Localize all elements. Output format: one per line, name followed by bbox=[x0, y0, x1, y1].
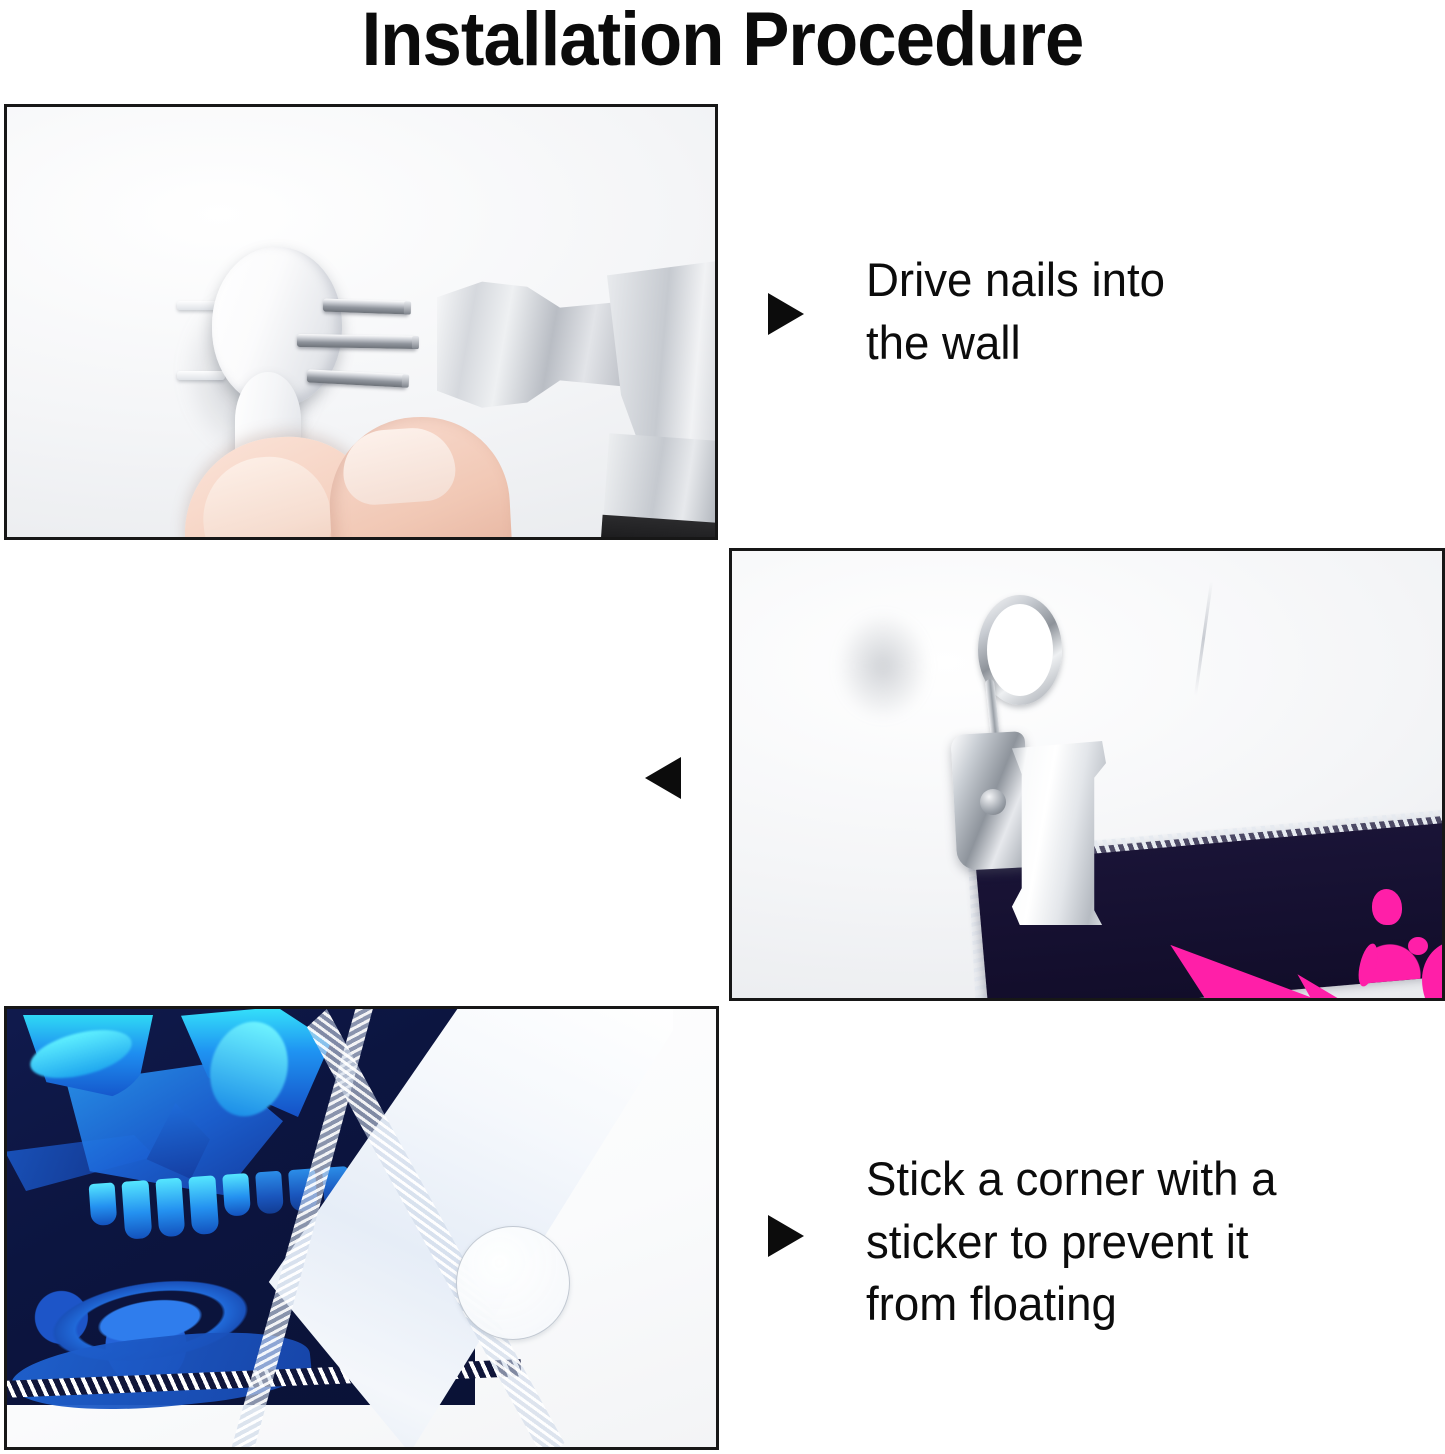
tapestry-pink-dot-2 bbox=[1408, 937, 1428, 955]
step-2-photo bbox=[729, 548, 1445, 1001]
triangle-right-icon bbox=[768, 293, 804, 335]
tapestry-pink-dot-1 bbox=[1372, 889, 1402, 925]
adhesive-sticker bbox=[456, 1226, 570, 1340]
clip-pivot bbox=[980, 789, 1006, 815]
step-3-label: Stick a corner with a sticker to prevent… bbox=[866, 1148, 1322, 1336]
nail-middle bbox=[297, 334, 417, 349]
step-1-label: Drive nails into the wall bbox=[866, 249, 1273, 374]
installation-procedure-infographic: Installation Procedure bbox=[0, 0, 1445, 1454]
clip-wall-shadow bbox=[818, 591, 948, 741]
triangle-left-icon bbox=[645, 757, 681, 799]
skull-tooth bbox=[89, 1182, 118, 1226]
step-3-photo bbox=[4, 1006, 719, 1450]
hook-fin-lower bbox=[177, 371, 225, 380]
step-1-photo bbox=[4, 104, 718, 540]
skull-tooth bbox=[255, 1171, 284, 1215]
skull-tooth bbox=[155, 1178, 185, 1238]
skull-tooth bbox=[222, 1173, 251, 1217]
clip-jaw bbox=[1008, 741, 1106, 925]
skull-tooth bbox=[188, 1175, 218, 1235]
page-title: Installation Procedure bbox=[51, 0, 1395, 82]
skull-tooth bbox=[122, 1180, 152, 1240]
triangle-right-icon bbox=[768, 1215, 804, 1257]
